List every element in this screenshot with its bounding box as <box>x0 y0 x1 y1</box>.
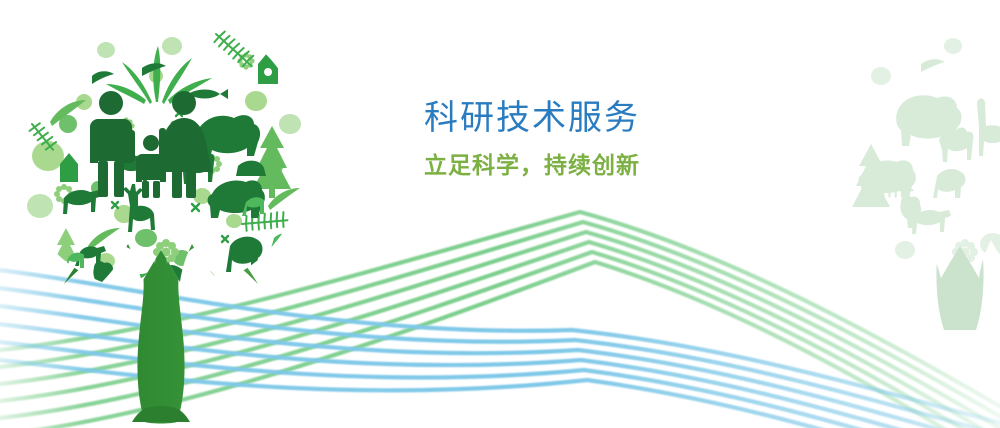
page-title: 科研技术服务 <box>382 96 682 140</box>
eco-tree-right-graphic <box>845 4 1000 334</box>
eco-tree-right <box>845 4 1000 334</box>
headline-block: 科研技术服务 立足科学，持续创新 <box>382 96 682 180</box>
eco-tree-left-graphic <box>6 6 316 426</box>
eco-tree-left <box>6 6 316 426</box>
tree-right-canopy <box>845 4 1000 294</box>
banner-root: 科研技术服务 立足科学，持续创新 <box>0 0 1000 428</box>
page-subtitle: 立足科学，持续创新 <box>382 150 682 180</box>
